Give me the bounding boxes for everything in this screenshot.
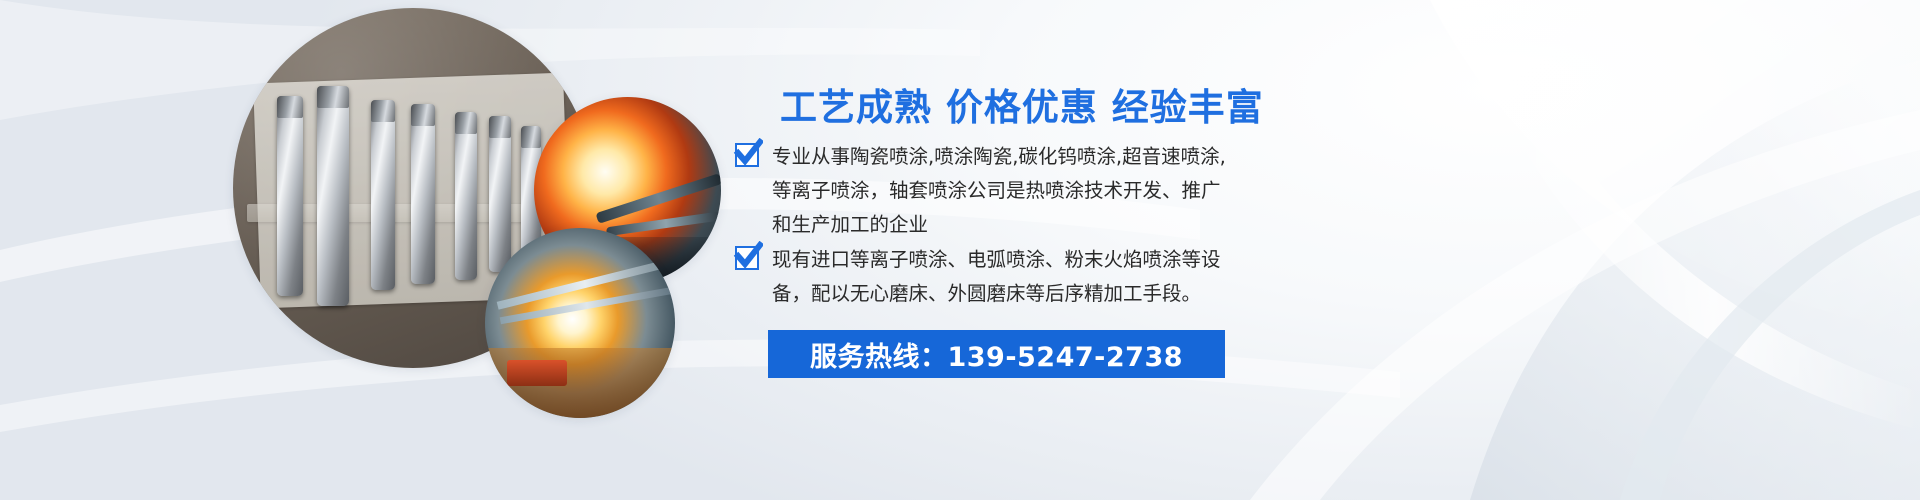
bullet-1-line-3: 和生产加工的企业 <box>772 208 1226 242</box>
feature-bullet-1: 专业从事陶瓷喷涂,喷涂陶瓷,碳化钨喷涂,超音速喷涂, 等离子喷涂，轴套喷涂公司是… <box>735 140 1226 242</box>
feature-bullet-2-text: 现有进口等离子喷涂、电弧喷涂、粉末火焰喷涂等设 备，配以无心磨床、外圆磨床等后序… <box>772 243 1221 311</box>
checkmark-icon <box>735 246 759 270</box>
hotline-banner[interactable]: 服务热线：139-5247-2738 <box>768 330 1225 378</box>
feature-bullet-1-text: 专业从事陶瓷喷涂,喷涂陶瓷,碳化钨喷涂,超音速喷涂, 等离子喷涂，轴套喷涂公司是… <box>772 140 1226 242</box>
welding-photo <box>485 228 675 418</box>
checkmark-icon <box>735 143 759 167</box>
feature-bullet-2: 现有进口等离子喷涂、电弧喷涂、粉末火焰喷涂等设 备，配以无心磨床、外圆磨床等后序… <box>735 243 1221 311</box>
bullet-1-line-2: 等离子喷涂，轴套喷涂公司是热喷涂技术开发、推广 <box>772 174 1226 208</box>
bullet-1-line-1: 专业从事陶瓷喷涂,喷涂陶瓷,碳化钨喷涂,超音速喷涂, <box>772 140 1226 174</box>
bullet-2-line-2: 备，配以无心磨床、外圆磨床等后序精加工手段。 <box>772 277 1221 311</box>
promo-banner: 工艺成熟 价格优惠 经验丰富 专业从事陶瓷喷涂,喷涂陶瓷,碳化钨喷涂,超音速喷涂… <box>0 0 1920 500</box>
banner-content: 工艺成熟 价格优惠 经验丰富 专业从事陶瓷喷涂,喷涂陶瓷,碳化钨喷涂,超音速喷涂… <box>735 0 1735 500</box>
bullet-2-line-1: 现有进口等离子喷涂、电弧喷涂、粉末火焰喷涂等设 <box>772 243 1221 277</box>
hotline-text: 服务热线：139-5247-2738 <box>810 335 1183 374</box>
page-title: 工艺成熟 价格优惠 经验丰富 <box>780 77 1264 131</box>
